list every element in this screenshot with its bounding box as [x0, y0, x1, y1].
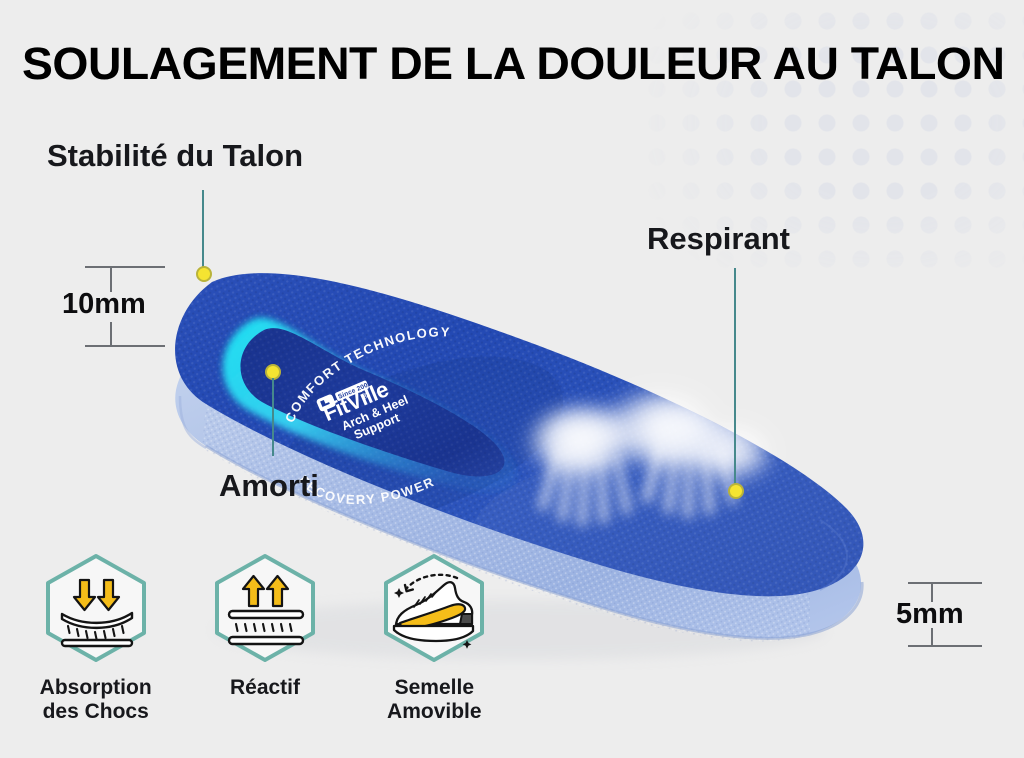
feature-row: Absorption des Chocs	[30, 552, 500, 737]
infographic-canvas: SOULAGEMENT DE LA DOULEUR AU TALON	[0, 0, 1024, 758]
removable-insole-shoe-icon	[374, 552, 494, 664]
feature-caption-rebound: Réactif	[230, 676, 300, 700]
svg-text:Support: Support	[352, 410, 402, 442]
svg-text:FitVille: FitVille	[319, 376, 392, 426]
feature-shock-absorption: Absorption des Chocs	[30, 552, 161, 737]
breathability-vapour	[523, 384, 776, 484]
callout-dot-stability	[196, 266, 212, 282]
dimension-forefoot-value: 5mm	[896, 598, 964, 631]
shock-absorption-icon	[36, 552, 156, 664]
feature-rebound: Réactif	[199, 552, 330, 737]
callout-label-stability: Stabilité du Talon	[47, 138, 303, 174]
feature-caption-shock-absorption: Absorption des Chocs	[40, 676, 152, 723]
feature-caption-removable-insole: Semelle Amovible	[387, 676, 482, 723]
callout-leader-line-stability	[202, 190, 204, 274]
dimension-heel-value: 10mm	[62, 288, 146, 321]
callout-label-respirant: Respirant	[647, 221, 790, 257]
page-title: SOULAGEMENT DE LA DOULEUR AU TALON	[22, 38, 1024, 90]
callout-label-amorti: Amorti	[219, 468, 319, 504]
svg-text:COMFORT TECHNOLOGY: COMFORT TECHNOLOGY	[282, 324, 451, 425]
svg-text:Since 2009: Since 2009	[337, 380, 373, 400]
callout-leader-line-respirant	[734, 268, 736, 490]
feature-removable-insole: Semelle Amovible	[369, 552, 500, 737]
rebound-arrows-icon	[205, 552, 325, 664]
svg-text:Arch & Heel: Arch & Heel	[340, 393, 411, 434]
callout-leader-line-amorti	[272, 378, 274, 456]
svg-text:®: ®	[361, 391, 370, 402]
callout-dot-respirant	[728, 483, 744, 499]
